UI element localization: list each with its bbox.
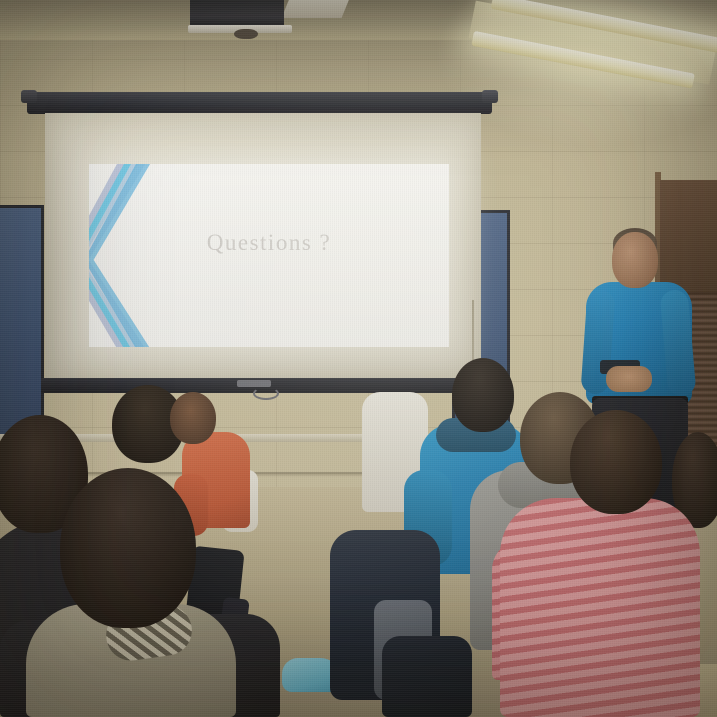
screen-pull-handle[interactable]: [237, 380, 271, 387]
projector-lens: [234, 29, 258, 39]
projection-screen: Questions ?: [27, 92, 492, 402]
student-head: [170, 392, 216, 444]
presenter-head: [612, 232, 658, 288]
screen-case-end-cap: [482, 90, 498, 103]
slide-title-text: Questions ?: [89, 230, 449, 256]
screen-roller-case: [27, 92, 492, 114]
student-hair: [60, 468, 196, 628]
ceiling-projector: [190, 0, 290, 39]
door-upper-panel: [660, 180, 717, 295]
classroom-photo: Questions ?: [0, 0, 717, 717]
screen-case-end-cap: [21, 90, 37, 103]
projector-mount-arm: [282, 0, 351, 18]
student-head: [570, 410, 662, 514]
student-head: [452, 358, 514, 432]
projected-slide: Questions ?: [89, 164, 449, 347]
projector-body: [190, 0, 284, 27]
student-striped-shirt: [500, 498, 700, 717]
presenter-hands: [606, 366, 652, 392]
screen-pull-ring[interactable]: [253, 387, 279, 400]
backpack: [382, 636, 472, 717]
